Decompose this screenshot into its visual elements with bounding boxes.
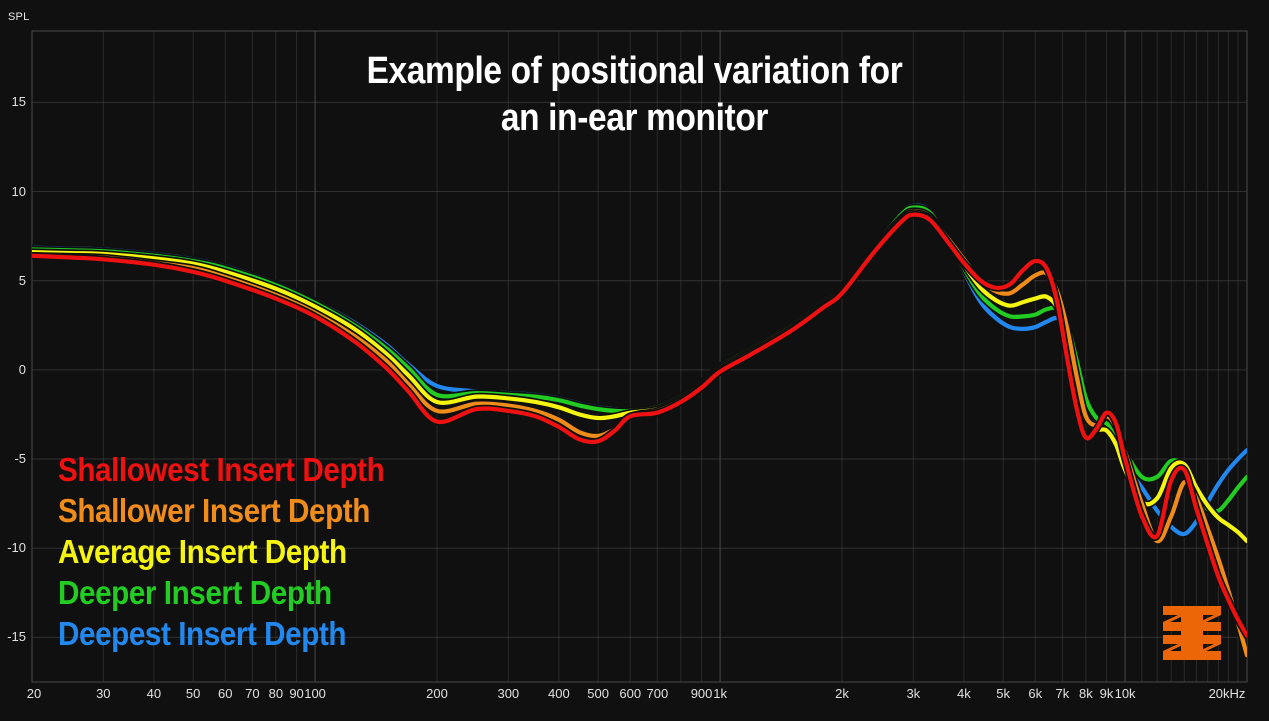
- x-axis-tick-label: 8k: [1079, 686, 1093, 701]
- y-axis-tick-label: 0: [0, 362, 26, 377]
- y-axis-tick-label: -10: [0, 540, 26, 555]
- y-axis-tick-label: 15: [0, 94, 26, 109]
- y-axis-tick-label: 5: [0, 273, 26, 288]
- legend-item-shallower[interactable]: Shallower Insert Depth: [58, 490, 384, 531]
- x-axis-tick-label: 700: [646, 686, 668, 701]
- legend-item-deepest[interactable]: Deepest Insert Depth: [58, 613, 384, 654]
- legend-item-average[interactable]: Average Insert Depth: [58, 531, 384, 572]
- y-axis-tick-label: -5: [0, 451, 26, 466]
- x-axis-tick-label: 1k: [713, 686, 727, 701]
- x-axis-tick-label: 30: [96, 686, 110, 701]
- legend: Shallowest Insert DepthShallower Insert …: [58, 449, 421, 654]
- frequency-response-graph: SPL 151050-5-10-15 203040506070809010020…: [0, 0, 1269, 721]
- legend-item-shallowest[interactable]: Shallowest Insert Depth: [58, 449, 384, 490]
- x-axis-tick-label: 2k: [835, 686, 849, 701]
- x-axis-tick-label: 50: [186, 686, 200, 701]
- x-axis-tick-label: 200: [426, 686, 448, 701]
- x-axis-tick-label: 7k: [1055, 686, 1069, 701]
- x-axis-tick-label: 90: [289, 686, 303, 701]
- y-axis-tick-label: 10: [0, 184, 26, 199]
- headphones-logo-icon: [1159, 602, 1225, 664]
- x-axis-tick-label: 80: [269, 686, 283, 701]
- x-axis-tick-label: 20: [27, 686, 41, 701]
- x-axis-tick-label: 400: [548, 686, 570, 701]
- x-axis-tick-label: 40: [147, 686, 161, 701]
- x-axis-tick-label: 10k: [1115, 686, 1136, 701]
- x-axis-tick-label: 600: [619, 686, 641, 701]
- x-axis-tick-label: 4k: [957, 686, 971, 701]
- x-axis-tick-label: 70: [245, 686, 259, 701]
- x-axis-tick-label: 3k: [906, 686, 920, 701]
- x-axis-tick-label: 5k: [996, 686, 1010, 701]
- y-axis-tick-label: -15: [0, 629, 26, 644]
- y-axis-unit-label: SPL: [8, 11, 29, 23]
- x-axis-tick-label: 9k: [1100, 686, 1114, 701]
- x-axis-tick-label: 500: [587, 686, 609, 701]
- x-axis-tick-label: 6k: [1028, 686, 1042, 701]
- x-axis-tick-label: 20kHz: [1209, 686, 1246, 701]
- x-axis-tick-label: 900: [691, 686, 713, 701]
- x-axis-tick-label: 100: [304, 686, 326, 701]
- x-axis-tick-label: 300: [497, 686, 519, 701]
- x-axis-tick-label: 60: [218, 686, 232, 701]
- legend-item-deeper[interactable]: Deeper Insert Depth: [58, 572, 384, 613]
